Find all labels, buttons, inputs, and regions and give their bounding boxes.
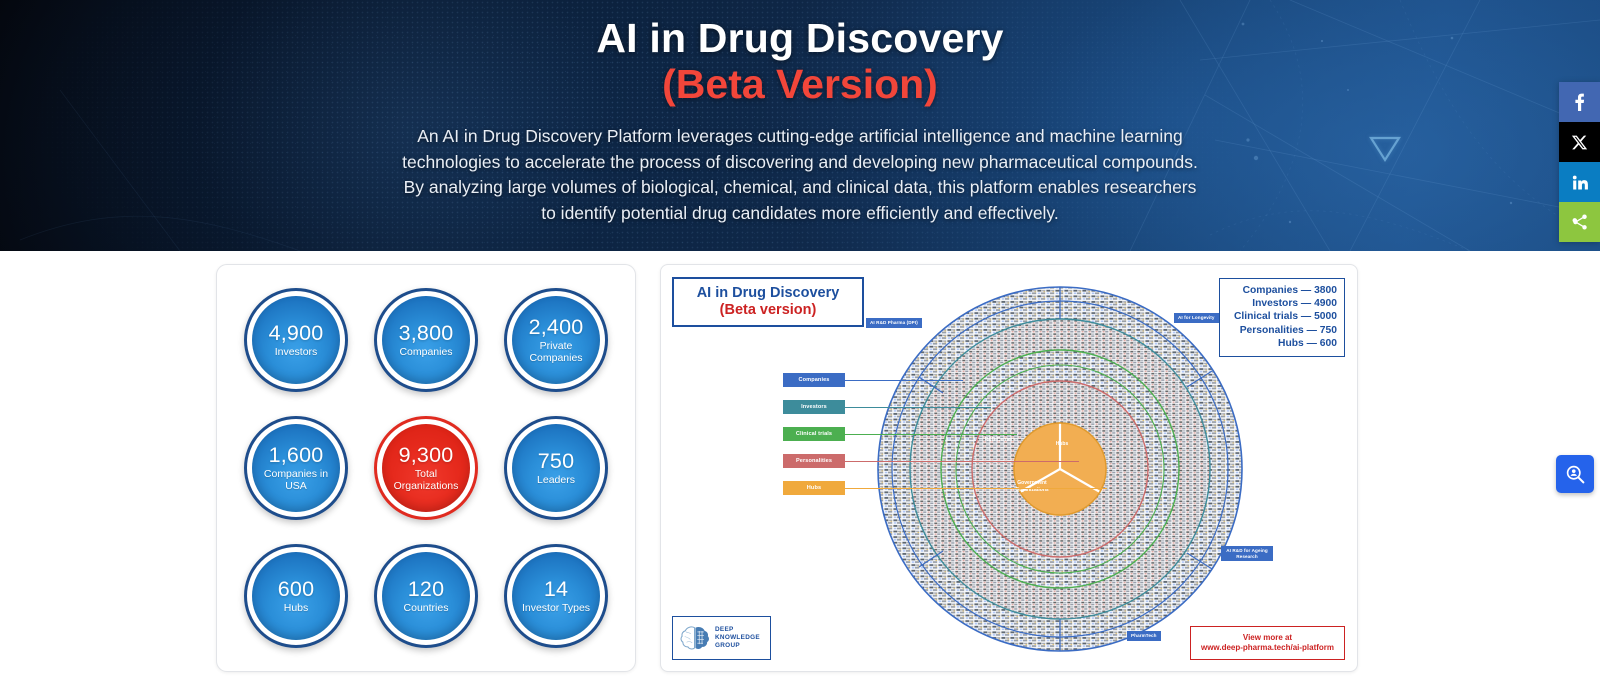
diagram-legend: Companies Investors Clinical trials Pers… [783,373,845,508]
legend-item-hubs[interactable]: Hubs [783,481,845,495]
linkedin-share-button[interactable] [1559,162,1600,202]
legend-label: Clinical trials [796,431,832,437]
core-label-hubs: Hubs [1045,441,1079,448]
legend-connector-line [845,461,1079,462]
stat-value: 14 [544,578,568,601]
logo-line-2: KNOWLEDGE [715,634,760,642]
ring-tag-pharmtech: PharmTech [1127,631,1161,641]
hero-description: An AI in Drug Discovery Platform leverag… [400,124,1200,227]
core-label-government-organizations: Government Organizations [1001,480,1063,493]
logo-line-3: GROUP [715,642,760,650]
stat-card-companies[interactable]: 3,800 Companies [374,288,478,392]
hero-banner: AI in Drug Discovery (Beta Version) An A… [0,0,1600,251]
ring-tag-ai-rnd-pharma: AI R&D Pharma (DPI) [866,318,922,328]
stat-label: Private Companies [512,341,600,363]
diagram-title-box: AI in Drug Discovery (Beta version) [672,277,864,327]
facebook-icon [1570,93,1589,112]
ring-tag-ai-for-longevity: AI for Longevity [1174,313,1219,323]
social-share-rail [1559,82,1600,242]
page-subtitle: (Beta Version) [662,62,938,108]
stat-label: Investors [271,347,322,358]
ring-tag-ai-rnd-ageing-research: AI R&D for Ageing Research [1221,546,1273,561]
legend-item-personalities[interactable]: Personalities [783,454,845,468]
legend-connector-line [845,380,963,381]
stats-panel: 4,900 Investors 3,800 Companies 2,400 Pr… [216,264,636,672]
logo-line-1: DEEP [715,626,760,634]
stat-card-total-organizations[interactable]: 9,300 Total Organizations [374,416,478,520]
deep-knowledge-group-logo: DEEP KNOWLEDGE GROUP [672,616,771,660]
legend-label: Hubs [807,485,821,491]
legend-label: Companies [798,377,829,383]
legend-connector-line [845,488,1107,489]
stat-label: Leaders [533,475,579,486]
legend-item-investors[interactable]: Investors [783,400,845,414]
stat-value: 750 [538,450,574,473]
page-title: AI in Drug Discovery [596,16,1003,62]
legend-connector-line [845,407,991,408]
view-more-cta[interactable]: View more at www.deep-pharma.tech/ai-pla… [1190,626,1345,660]
stat-value: 120 [408,578,444,601]
stat-card-leaders[interactable]: 750 Leaders [504,416,608,520]
legend-label: Personalities [796,458,832,464]
x-twitter-icon [1571,134,1588,151]
stat-card-hubs[interactable]: 600 Hubs [244,544,348,648]
stat-value: 3,800 [399,322,454,345]
facebook-share-button[interactable] [1559,82,1600,122]
people-search-button[interactable] [1556,455,1594,493]
stat-value: 600 [278,578,314,601]
legend-label: Investors [801,404,827,410]
stat-card-investors[interactable]: 4,900 Investors [244,288,348,392]
cta-line-1: View more at [1243,633,1292,643]
stat-label: Investor Types [518,603,594,614]
core-label-rnd-centers: R&D Centers [977,437,1023,444]
stat-label: Companies [395,347,456,358]
stat-value: 2,400 [529,316,584,339]
brain-icon [680,625,710,652]
stat-card-private-companies[interactable]: 2,400 Private Companies [504,288,608,392]
stat-label: Hubs [280,603,313,614]
page-root: AI in Drug Discovery (Beta Version) An A… [0,0,1600,684]
cta-line-2: www.deep-pharma.tech/ai-platform [1201,643,1334,653]
diagram-title-line1: AI in Drug Discovery [697,285,840,302]
legend-item-companies[interactable]: Companies [783,373,845,387]
stat-label: Companies in USA [252,469,340,491]
stat-card-investor-types[interactable]: 14 Investor Types [504,544,608,648]
x-share-button[interactable] [1559,122,1600,162]
stat-value: 1,600 [269,444,324,467]
stat-label: Countries [400,603,453,614]
stat-card-companies-in-usa[interactable]: 1,600 Companies in USA [244,416,348,520]
stat-value: 9,300 [399,444,454,467]
stat-label: Total Organizations [382,469,470,491]
diagram-title-line2: (Beta version) [720,302,817,319]
content-area: 4,900 Investors 3,800 Companies 2,400 Pr… [0,251,1600,684]
stat-value: 4,900 [269,322,324,345]
legend-item-clinical-trials[interactable]: Clinical trials [783,427,845,441]
generic-share-button[interactable] [1559,202,1600,242]
share-icon [1571,213,1589,231]
diagram-panel: AI in Drug Discovery (Beta version) Comp… [660,264,1358,672]
linkedin-icon [1571,173,1589,191]
legend-connector-line [845,434,1017,435]
stat-card-countries[interactable]: 120 Countries [374,544,478,648]
person-search-icon [1565,464,1586,485]
wheel-core [1014,423,1106,515]
